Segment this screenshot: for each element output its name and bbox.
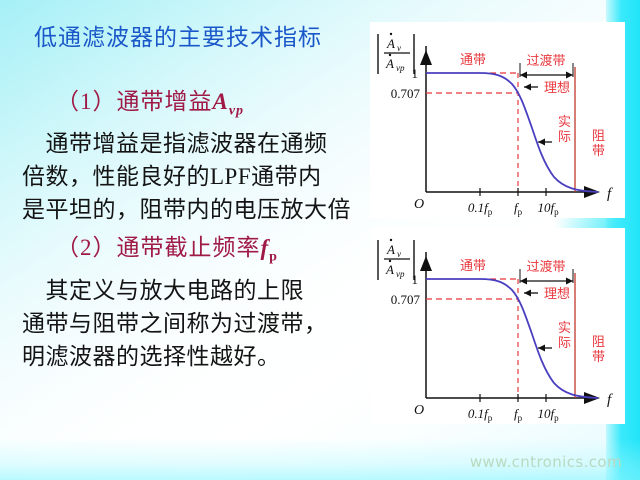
chart1-actual-curve	[426, 73, 598, 192]
watermark: www.cntronics.com	[470, 453, 622, 471]
chart2-ideal-arrow	[524, 290, 538, 297]
chart-lpf-response-1: A v A vp f O 1 0.707	[370, 22, 625, 218]
chart2-ylabel-num-sub: v	[397, 249, 401, 259]
chart1-ylabel-num-dot	[390, 33, 392, 35]
chart1-stopband-label: 阻带	[592, 129, 605, 159]
chart1-ytick-0707: 0.707	[391, 86, 421, 101]
chart1-origin-label: O	[414, 197, 424, 212]
body-line-2: 倍数，性能良好的LPF通带内	[22, 157, 370, 191]
chart2-xlabel: f	[607, 392, 613, 408]
chart1-xtick-1: 0.1fp	[468, 200, 493, 217]
chart-panel-lpf-response-2: A v A vp f O 1 0.707	[370, 228, 625, 424]
slide-canvas: 低通滤波器的主要技术指标 （1）通带增益Avp 通带增益是指滤波器在通频 倍数，…	[0, 0, 640, 480]
section-heading-1-variable: A	[213, 89, 229, 114]
chart1-stopband-label-text: 阻带	[592, 129, 605, 159]
chart2-y-axis-label: A v A vp	[378, 239, 414, 280]
chart1-ytick-1: 1	[412, 66, 419, 81]
chart2-ylabel-numerator: A	[386, 242, 395, 257]
chart2-transition-band-label: 过渡带	[526, 259, 565, 275]
chart2-xtick-3: 10fp	[537, 406, 559, 423]
chart2-ylabel-den-dot	[389, 260, 391, 262]
chart1-xtick-2: fp	[514, 200, 523, 217]
chart2-ylabel-denominator: A	[385, 262, 394, 277]
chart1-transition-band-label: 过渡带	[526, 53, 565, 69]
chart1-passband-label: 通带	[460, 53, 486, 68]
text-column: 低通滤波器的主要技术指标 （1）通带增益Avp 通带增益是指滤波器在通频 倍数，…	[0, 0, 370, 440]
chart2-origin-label: O	[414, 403, 424, 418]
chart2-ideal-label: 理想	[544, 286, 570, 302]
section-heading-2-text: （2）通带截止频率	[56, 235, 261, 260]
chart2-xtick-1: 0.1fp	[468, 406, 493, 423]
chart1-ideal-label: 理想	[544, 80, 570, 96]
chart1-xlabel: f	[607, 186, 613, 202]
chart1-ylabel-denominator: A	[385, 56, 394, 71]
chart2-ylabel-num-dot	[390, 239, 392, 241]
chart1-ylabel-num-sub: v	[397, 43, 401, 53]
chart1-actual-arrow	[538, 139, 552, 146]
section-heading-1-subscript: vp	[229, 104, 244, 119]
body-line-3: 是平坦的，阻带内的电压放大倍	[22, 190, 370, 224]
chart-lpf-response-2: A v A vp f O 1 0.707	[370, 228, 625, 424]
body-line-5: 通带与阻带之间称为过渡带，	[22, 304, 370, 338]
chart2-stopband-label: 阻带	[592, 335, 605, 365]
section-heading-2-subscript: p	[269, 250, 278, 265]
chart1-xtick-3: 10fp	[537, 200, 559, 217]
chart2-ylabel-den-sub: vp	[396, 269, 405, 279]
section-heading-2: （2）通带截止频率fp	[56, 228, 370, 266]
chart1-y-axis-label: A v A vp	[378, 33, 414, 74]
page-title: 低通滤波器的主要技术指标	[34, 18, 370, 52]
body-line-4: 其定义与放大电路的上限	[22, 271, 370, 305]
body-line-6: 明滤波器的选择性越好。	[22, 337, 370, 371]
chart2-stopband-label-text: 阻带	[592, 335, 605, 365]
chart2-ytick-1: 1	[412, 272, 419, 287]
body-line-1: 通带增益是指滤波器在通频	[22, 124, 370, 158]
section-heading-2-variable: f	[261, 235, 270, 260]
chart2-actual-curve	[426, 279, 598, 398]
chart2-xtick-2: fp	[514, 406, 523, 423]
chart1-ylabel-den-dot	[389, 54, 391, 56]
body-line-2-text: 倍数，性能良好的LPF通带内	[22, 164, 322, 189]
chart-panel-lpf-response-1: A v A vp f O 1 0.707	[370, 22, 625, 218]
section-heading-1-text: （1）通带增益	[56, 89, 213, 114]
chart2-passband-label: 通带	[460, 259, 486, 274]
chart1-ylabel-den-sub: vp	[396, 63, 405, 73]
chart1-ylabel-numerator: A	[386, 36, 395, 51]
chart2-actual-label: 实际	[558, 321, 571, 351]
chart2-actual-arrow	[538, 345, 552, 352]
chart1-ideal-arrow	[524, 84, 538, 91]
section-heading-1: （1）通带增益Avp	[56, 82, 370, 120]
chart2-ytick-0707: 0.707	[391, 292, 421, 307]
chart1-actual-label: 实际	[558, 115, 571, 145]
